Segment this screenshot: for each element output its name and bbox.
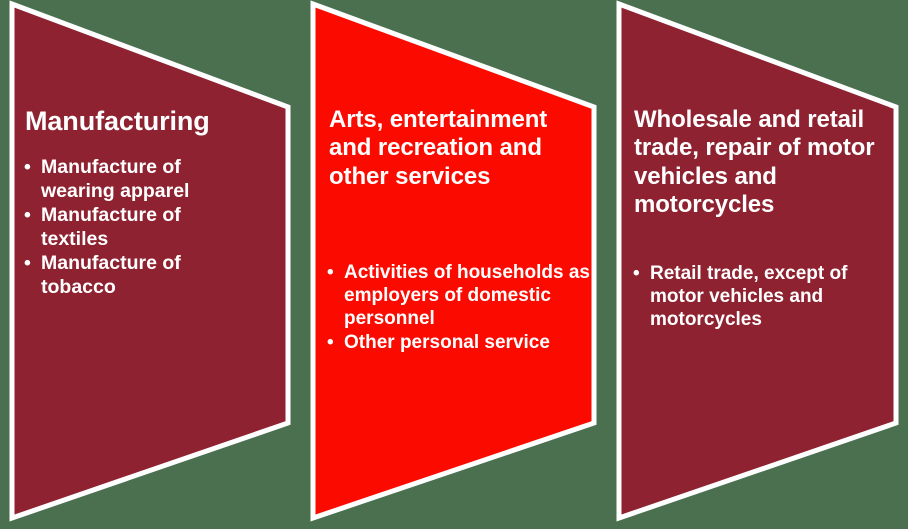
list-item: •Activities of households as employers o… xyxy=(327,262,597,331)
panel-content-arts-entertainment-recreation: Arts, entertainment and recreation and o… xyxy=(305,0,605,529)
list-item-label: Other personal service xyxy=(344,332,550,353)
bullet-icon: • xyxy=(633,263,640,286)
panel-bullet-list: •Activities of households as employers o… xyxy=(327,262,597,356)
bullet-icon: • xyxy=(327,262,334,285)
list-item: •Manufacture of wearing apparel xyxy=(24,156,239,203)
panel-wholesale-retail-trade[interactable]: Wholesale and retail trade, repair of mo… xyxy=(611,0,908,529)
panel-content-wholesale-retail-trade: Wholesale and retail trade, repair of mo… xyxy=(611,0,908,529)
list-item-label: Manufacture of tobacco xyxy=(41,252,181,298)
panel-arts-entertainment-recreation[interactable]: Arts, entertainment and recreation and o… xyxy=(305,0,605,529)
list-item-label: Activities of households as employers of… xyxy=(344,262,590,329)
panel-manufacturing[interactable]: Manufacturing •Manufacture of wearing ap… xyxy=(0,0,300,529)
bullet-icon: • xyxy=(24,252,31,276)
bullet-icon: • xyxy=(24,204,31,228)
panel-title: Wholesale and retail trade, repair of mo… xyxy=(634,106,904,219)
list-item: •Manufacture of tobacco xyxy=(24,252,239,299)
bullet-icon: • xyxy=(24,156,31,180)
panel-title: Manufacturing xyxy=(25,106,275,138)
diagram-canvas: Manufacturing •Manufacture of wearing ap… xyxy=(0,0,908,529)
panel-bullet-list: •Manufacture of wearing apparel •Manufac… xyxy=(24,156,239,301)
list-item-label: Manufacture of wearing apparel xyxy=(41,156,189,202)
list-item: •Retail trade, except of motor vehicles … xyxy=(633,263,873,332)
panel-content-manufacturing: Manufacturing •Manufacture of wearing ap… xyxy=(0,0,300,529)
list-item: •Other personal service xyxy=(327,332,597,355)
list-item: •Manufacture of textiles xyxy=(24,204,239,251)
panel-bullet-list: •Retail trade, except of motor vehicles … xyxy=(633,263,873,333)
panel-title: Arts, entertainment and recreation and o… xyxy=(329,106,594,191)
list-item-label: Retail trade, except of motor vehicles a… xyxy=(650,263,847,330)
bullet-icon: • xyxy=(327,332,334,355)
list-item-label: Manufacture of textiles xyxy=(41,204,181,250)
